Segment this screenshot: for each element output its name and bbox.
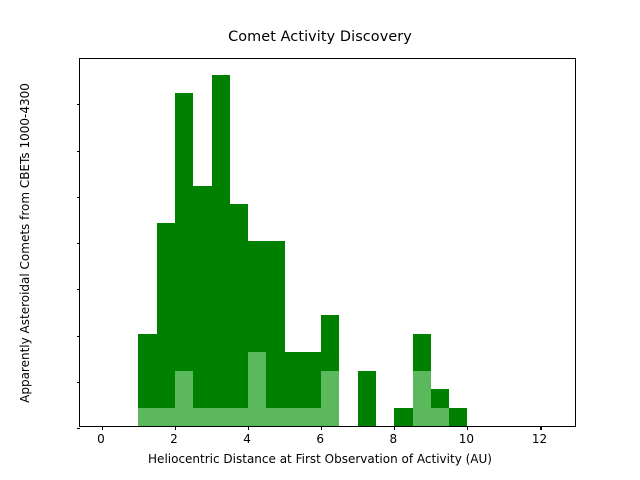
plot-area bbox=[79, 58, 576, 427]
histogram-bar bbox=[413, 371, 431, 426]
histogram-bar bbox=[303, 408, 321, 426]
y-axis-label-text: Apparently Asteroidal Comets from CBETs … bbox=[18, 83, 32, 403]
x-tick-mark bbox=[540, 426, 541, 430]
x-tick-mark bbox=[467, 426, 468, 430]
x-tick-label: 4 bbox=[243, 432, 251, 446]
histogram-bar bbox=[212, 75, 230, 426]
x-axis-label: Heliocentric Distance at First Observati… bbox=[0, 452, 640, 466]
histogram-bar bbox=[230, 204, 248, 426]
figure-canvas: Comet Activity Discovery 0.02.55.07.510.… bbox=[0, 0, 640, 480]
y-tick-mark bbox=[77, 428, 81, 429]
x-tick-mark bbox=[248, 426, 249, 430]
y-tick-mark bbox=[77, 151, 81, 152]
histogram-bar bbox=[193, 186, 211, 426]
histogram-bar bbox=[193, 408, 211, 426]
x-tick-mark bbox=[175, 426, 176, 430]
histogram-bar bbox=[449, 408, 467, 426]
x-tick-label: 10 bbox=[459, 432, 474, 446]
y-tick-mark bbox=[77, 243, 81, 244]
histogram-bar bbox=[431, 408, 449, 426]
histogram-bar bbox=[175, 371, 193, 426]
y-tick-mark bbox=[77, 197, 81, 198]
y-tick-mark bbox=[77, 104, 81, 105]
histogram-bar bbox=[394, 408, 412, 426]
x-tick-label: 6 bbox=[316, 432, 324, 446]
page-title: Comet Activity Discovery bbox=[0, 29, 640, 45]
histogram-bar bbox=[266, 408, 284, 426]
x-tick-mark bbox=[394, 426, 395, 430]
histogram-bars bbox=[80, 59, 575, 426]
histogram-bar bbox=[138, 408, 156, 426]
x-tick-mark bbox=[102, 426, 103, 430]
x-tick-mark bbox=[321, 426, 322, 430]
histogram-bar bbox=[212, 408, 230, 426]
histogram-bar bbox=[266, 241, 284, 426]
y-tick-mark bbox=[77, 289, 81, 290]
histogram-bar bbox=[358, 371, 376, 426]
histogram-bar bbox=[321, 371, 339, 426]
y-axis-label: Apparently Asteroidal Comets from CBETs … bbox=[18, 0, 32, 243]
x-tick-label: 2 bbox=[170, 432, 178, 446]
y-tick-mark bbox=[77, 382, 81, 383]
histogram-bar bbox=[230, 408, 248, 426]
y-tick-mark bbox=[77, 336, 81, 337]
x-tick-label: 12 bbox=[532, 432, 547, 446]
histogram-bar bbox=[285, 408, 303, 426]
histogram-bar bbox=[157, 408, 175, 426]
x-tick-label: 8 bbox=[389, 432, 397, 446]
x-tick-label: 0 bbox=[97, 432, 105, 446]
histogram-bar bbox=[248, 352, 266, 426]
histogram-bar bbox=[157, 223, 175, 426]
